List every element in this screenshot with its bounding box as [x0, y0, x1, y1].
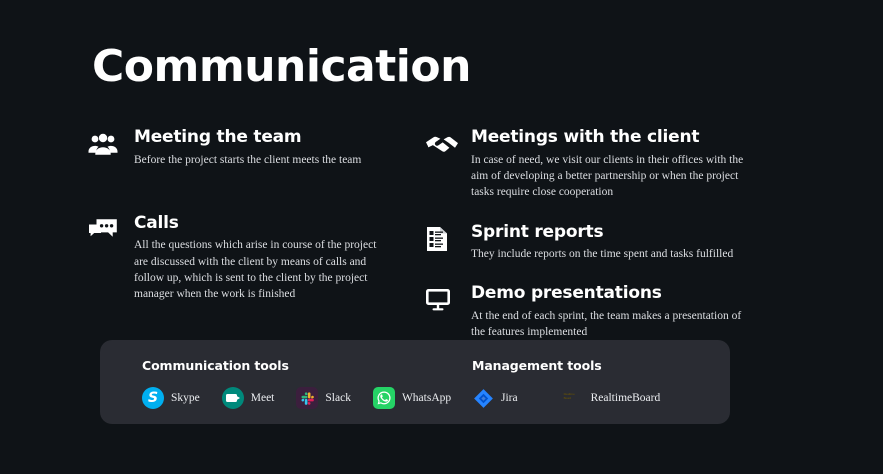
tool-meet[interactable]: Meet	[222, 387, 275, 409]
right-column: Meetings with the client In case of need…	[425, 128, 745, 359]
tool-label: RealtimeBoard	[591, 392, 661, 404]
feature-item-calls: Calls All the questions which arise in c…	[88, 214, 388, 303]
slide-communication: Communication Meeting the team Before th…	[0, 0, 883, 474]
feature-body: Demo presentations At the end of each sp…	[471, 284, 745, 340]
tool-realtimeboard[interactable]: Realtime Board RealtimeBoard	[562, 387, 661, 409]
jira-icon	[472, 387, 494, 409]
communication-tools-group: Communication tools S Skype Meet	[142, 358, 473, 409]
feature-body: Meeting the team Before the project star…	[134, 128, 388, 168]
communication-tools-title: Communication tools	[142, 358, 473, 373]
feature-heading: Demo presentations	[471, 284, 745, 304]
handshake-icon	[425, 130, 459, 158]
feature-heading: Meeting the team	[134, 128, 388, 148]
slack-icon	[296, 387, 318, 409]
feature-item-meetings-with-the-client: Meetings with the client In case of need…	[425, 128, 745, 201]
tool-label: Meet	[251, 392, 275, 404]
feature-body: Sprint reports They include reports on t…	[471, 223, 745, 263]
feature-description: All the questions which arise in course …	[134, 237, 388, 302]
skype-icon: S	[142, 387, 164, 409]
tool-label: WhatsApp	[402, 392, 451, 404]
feature-item-sprint-reports: Sprint reports They include reports on t…	[425, 223, 745, 263]
tool-jira[interactable]: Jira	[472, 387, 518, 409]
realtimeboard-icon: Realtime Board	[562, 387, 584, 409]
skype-mark: S	[142, 387, 164, 409]
feature-item-meeting-the-team: Meeting the team Before the project star…	[88, 128, 388, 168]
chat-bubbles-icon	[88, 216, 122, 244]
google-meet-icon	[222, 387, 244, 409]
report-document-icon	[425, 225, 459, 253]
feature-body: Meetings with the client In case of need…	[471, 128, 745, 201]
tool-slack[interactable]: Slack	[296, 387, 351, 409]
tool-skype[interactable]: S Skype	[142, 387, 200, 409]
tool-label: Jira	[501, 392, 518, 404]
feature-description: Before the project starts the client mee…	[134, 152, 388, 168]
feature-heading: Calls	[134, 214, 388, 234]
feature-description: They include reports on the time spent a…	[471, 246, 745, 262]
people-group-icon	[88, 130, 122, 158]
left-column: Meeting the team Before the project star…	[88, 128, 388, 321]
tool-whatsapp[interactable]: WhatsApp	[373, 387, 451, 409]
feature-heading: Sprint reports	[471, 223, 745, 243]
management-tools-title: Management tools	[472, 358, 682, 373]
feature-body: Calls All the questions which arise in c…	[134, 214, 388, 303]
communication-tools-list: S Skype Meet	[142, 387, 473, 409]
tools-panel: Communication tools S Skype Meet	[100, 340, 730, 424]
tool-label: Slack	[325, 392, 351, 404]
feature-description: At the end of each sprint, the team make…	[471, 308, 745, 341]
page-title: Communication	[92, 45, 471, 89]
management-tools-group: Management tools Jira	[472, 358, 682, 409]
whatsapp-icon	[373, 387, 395, 409]
feature-item-demo-presentations: Demo presentations At the end of each sp…	[425, 284, 745, 340]
management-tools-list: Jira Realtime Board RealtimeBoard	[472, 387, 682, 409]
monitor-presentation-icon	[425, 286, 459, 314]
feature-description: In case of need, we visit our clients in…	[471, 152, 745, 201]
tool-label: Skype	[171, 392, 200, 404]
feature-heading: Meetings with the client	[471, 128, 745, 148]
